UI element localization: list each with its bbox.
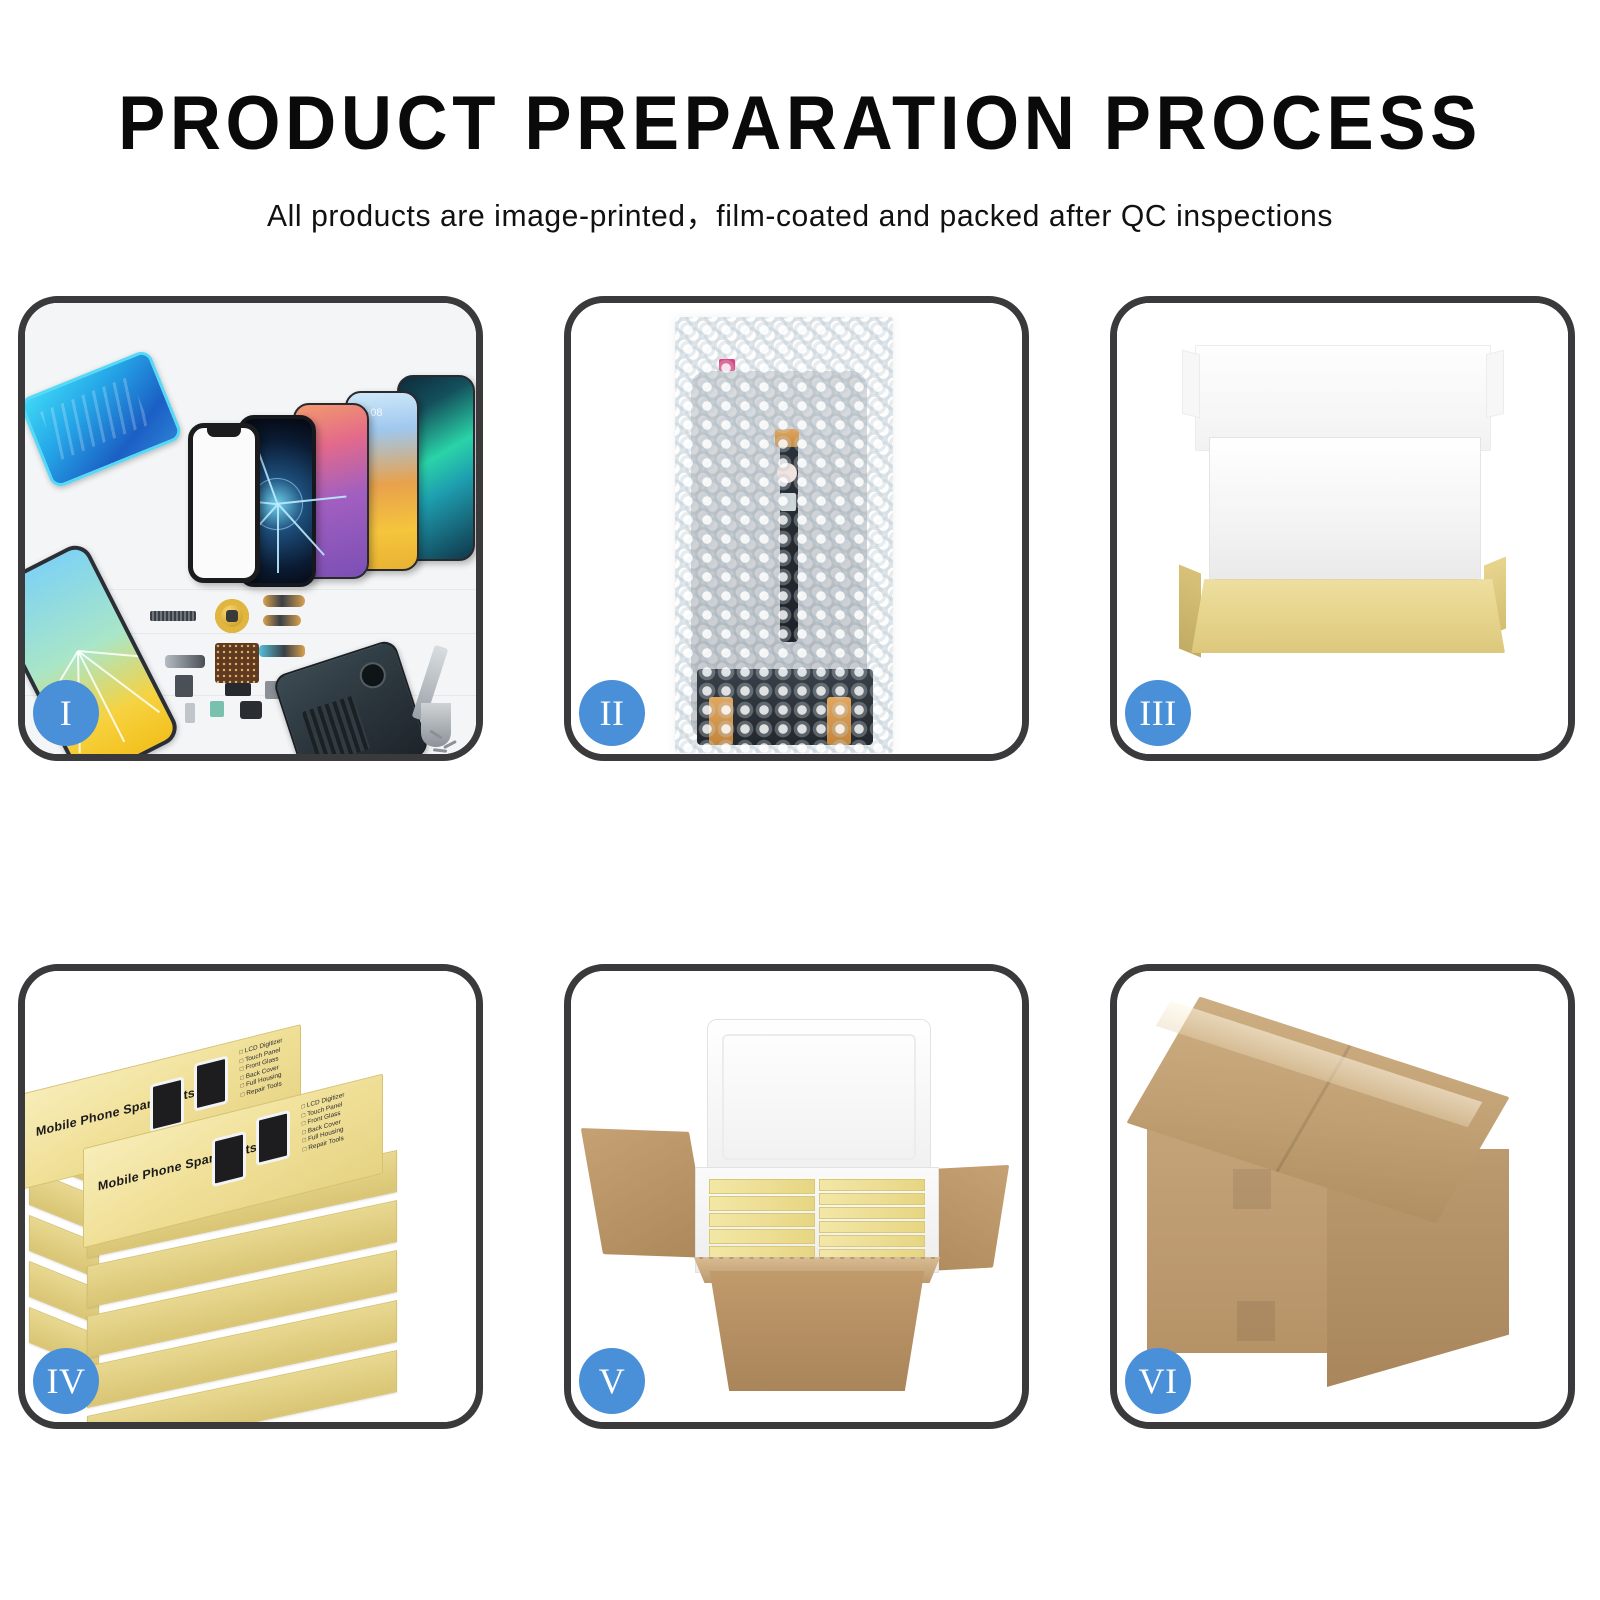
retail-box-checklist-2: LCD Digitizer Touch Panel Front Glass Ba…: [301, 1091, 346, 1154]
step-panel-4[interactable]: Mobile Phone Spare Parts LCD Digitizer T…: [18, 964, 483, 1429]
box-screen-thumbnail: [194, 1055, 228, 1111]
step-image-6: [1117, 971, 1568, 1422]
step-badge-3: III: [1125, 680, 1191, 746]
chip-array-icon: [215, 643, 259, 683]
step-panel-2[interactable]: II: [564, 296, 1029, 761]
sealed-carton-illustration: [1117, 971, 1568, 1422]
step-image-5: [571, 971, 1022, 1422]
step-badge-6: VI: [1125, 1348, 1191, 1414]
parts-collage-illustration: 08:08: [25, 303, 476, 754]
foam-sheet-icon: [1209, 437, 1481, 583]
box-screen-thumbnail: [212, 1131, 246, 1187]
carton-body: [695, 1271, 939, 1391]
step-badge-1: I: [33, 680, 99, 746]
speaker-grille-icon: [150, 611, 196, 621]
adhesive-backplate-icon: [25, 348, 184, 489]
step-image-3: [1117, 303, 1568, 754]
carton-tab: [1233, 1169, 1271, 1209]
sim-tray-icon: [185, 703, 195, 723]
styrofoam-lid-icon: [707, 1019, 931, 1175]
flex-cable-icon: [165, 655, 205, 668]
carton-with-foam-illustration: [571, 971, 1022, 1422]
step-image-2: [571, 303, 1022, 754]
page-root: PRODUCT PREPARATION PROCESS All products…: [0, 0, 1600, 1600]
open-inner-box-illustration: [1117, 303, 1568, 754]
carton-flap-left: [581, 1128, 712, 1258]
step-panel-6[interactable]: VI: [1110, 964, 1575, 1429]
process-step-grid: 08:08: [0, 0, 1600, 1600]
step-badge-5: V: [579, 1348, 645, 1414]
bubble-wrap-illustration: [675, 317, 893, 753]
small-component-icon: [240, 701, 262, 719]
step-image-4: Mobile Phone Spare Parts LCD Digitizer T…: [25, 971, 476, 1422]
box-screen-thumbnail: [256, 1110, 290, 1166]
carton-tab: [1237, 1301, 1275, 1341]
gold-boxes-inside: [707, 1177, 927, 1263]
flex-cable-icon: [263, 615, 301, 626]
flex-cable-icon: [263, 595, 305, 607]
step-panel-5[interactable]: V: [564, 964, 1029, 1429]
step-panel-1[interactable]: 08:08: [18, 296, 483, 761]
wireless-charging-coil-icon: [215, 599, 249, 633]
small-component-icon: [225, 683, 251, 696]
box-lid-icon: [1195, 345, 1491, 451]
step-badge-4: IV: [33, 1348, 99, 1414]
flex-cable-icon: [259, 645, 305, 657]
front-glass-panel-icon: [188, 423, 260, 583]
small-component-icon: [175, 675, 193, 697]
step-badge-2: II: [579, 680, 645, 746]
retail-box-stack-illustration: Mobile Phone Spare Parts LCD Digitizer T…: [25, 971, 476, 1422]
step-panel-3[interactable]: III: [1110, 296, 1575, 761]
small-component-icon: [210, 701, 224, 717]
retail-box-checklist-1: LCD Digitizer Touch Panel Front Glass Ba…: [239, 1037, 284, 1100]
screws-icon: [429, 733, 469, 754]
step-image-1: 08:08: [25, 303, 476, 754]
bubble-texture-overlay: [675, 317, 893, 753]
